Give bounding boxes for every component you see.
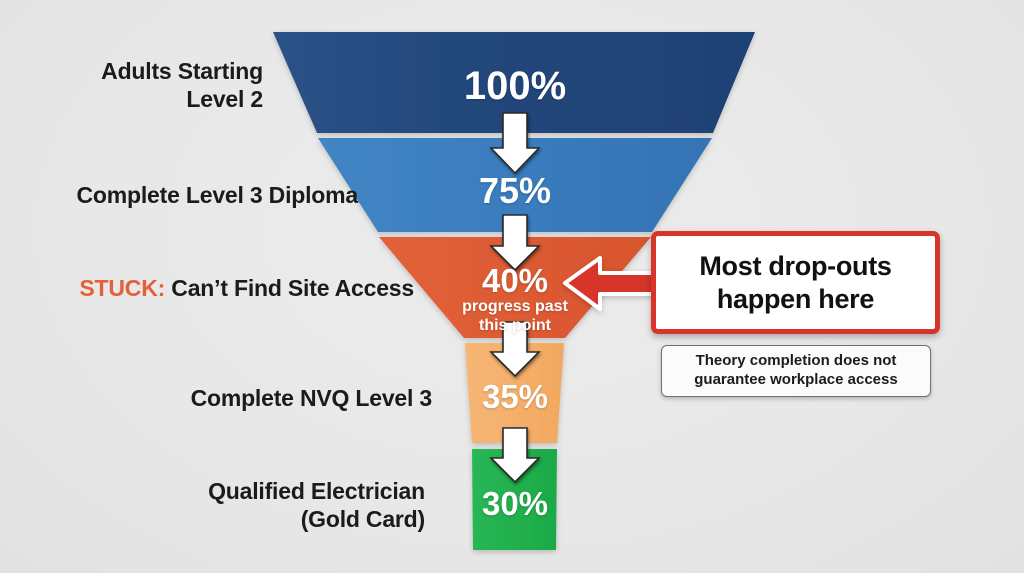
stage-label-adults-starting-level-2: Adults Starting Level 2: [20, 57, 263, 113]
note-box[interactable]: Theory completion does not guarantee wor…: [661, 345, 931, 397]
stage-label-stuck-site-access: STUCK: Can’t Find Site Access: [0, 274, 414, 302]
stage-label-qualified-electrician: Qualified Electrician (Gold Card): [0, 477, 425, 533]
stage-label-complete-nvq-level-3: Complete NVQ Level 3: [0, 384, 432, 412]
note-text: Theory completion does not guarantee wor…: [694, 352, 897, 390]
callout-box[interactable]: Most drop-outs happen here: [651, 231, 940, 334]
stuck-label-rest: Can’t Find Site Access: [165, 275, 414, 301]
callout-text: Most drop-outs happen here: [699, 250, 891, 316]
stuck-prefix: STUCK:: [79, 275, 165, 301]
stage-label-complete-level-3-diploma: Complete Level 3 Diploma: [0, 181, 358, 209]
funnel-chart-canvas: Adults Starting Level 2 Complete Level 3…: [0, 0, 1024, 573]
